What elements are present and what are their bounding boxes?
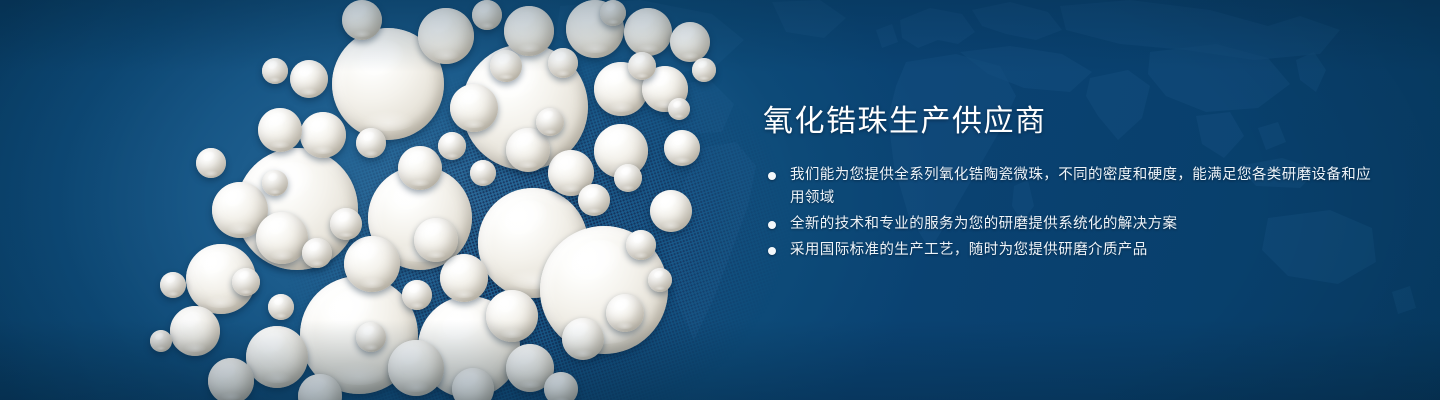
banner-feature-list: 我们能为您提供全系列氧化锆陶瓷微珠，不同的密度和硬度，能满足您各类研磨设备和应用… — [763, 164, 1383, 262]
banner-headline: 氧化锆珠生产供应商 — [763, 104, 1383, 139]
list-item: 全新的技术和专业的服务为您的研磨提供系统化的解决方案 — [763, 213, 1383, 236]
hero-banner: 氧化锆珠生产供应商 我们能为您提供全系列氧化锆陶瓷微珠，不同的密度和硬度，能满足… — [0, 0, 1440, 400]
bullet-dot-icon — [768, 247, 776, 255]
list-item: 采用国际标准的生产工艺，随时为您提供研磨介质产品 — [763, 239, 1383, 262]
bullet-dot-icon — [768, 172, 776, 180]
banner-content: 氧化锆珠生产供应商 我们能为您提供全系列氧化锆陶瓷微珠，不同的密度和硬度，能满足… — [763, 104, 1383, 265]
zirconia-beads-photo — [0, 0, 760, 400]
list-item-text: 采用国际标准的生产工艺，随时为您提供研磨介质产品 — [790, 242, 1148, 258]
bullet-dot-icon — [768, 221, 776, 229]
list-item: 我们能为您提供全系列氧化锆陶瓷微珠，不同的密度和硬度，能满足您各类研磨设备和应用… — [763, 164, 1383, 210]
halftone-texture — [27, 0, 853, 400]
list-item-text: 我们能为您提供全系列氧化锆陶瓷微珠，不同的密度和硬度，能满足您各类研磨设备和应用… — [790, 167, 1371, 206]
list-item-text: 全新的技术和专业的服务为您的研磨提供系统化的解决方案 — [790, 216, 1177, 232]
